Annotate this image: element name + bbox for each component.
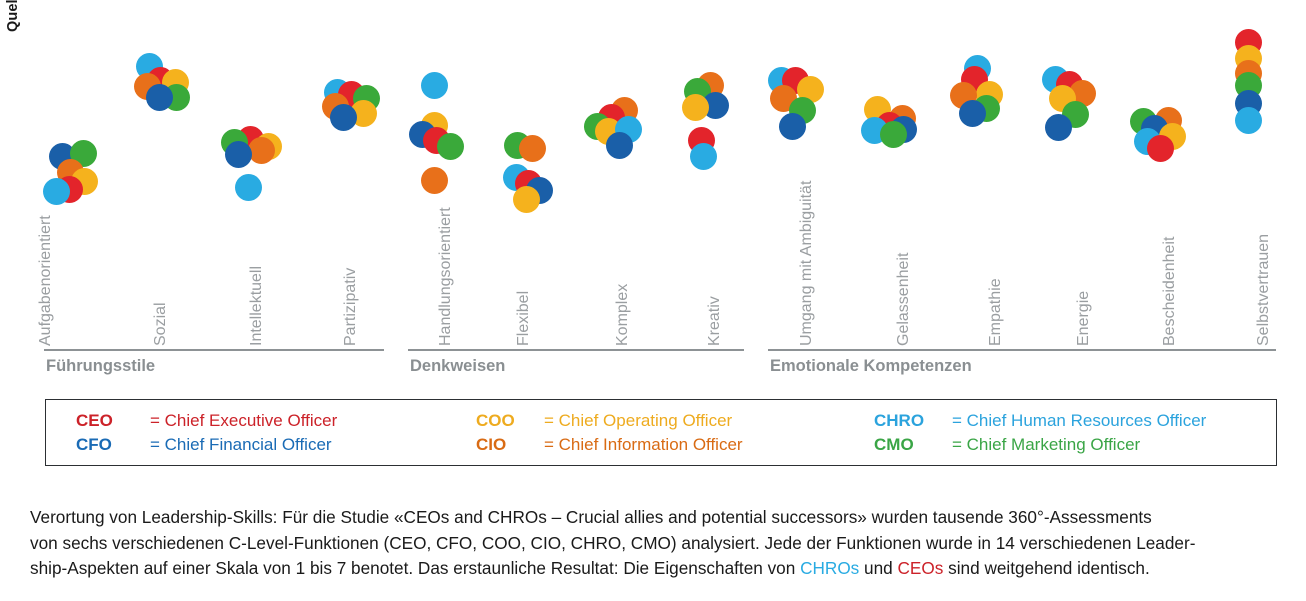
data-point-chro: [235, 174, 262, 201]
category-axis-label-slot: Partizipativ: [359, 0, 361, 349]
category-label: Handlungsorientiert: [438, 207, 454, 347]
data-point-cio: [519, 135, 546, 162]
legend-text-cfo: = Chief Financial Officer: [150, 433, 332, 457]
caption-line-3b: und: [859, 558, 897, 578]
data-point-cfo: [779, 113, 806, 140]
data-point-cfo: [146, 84, 173, 111]
category-axis-label-slot: Handlungsorientiert: [454, 0, 456, 349]
category-label: Flexibel: [516, 291, 532, 347]
figure-caption: Verortung von Leadership-Skills: Für die…: [30, 505, 1285, 582]
legend-box: CEO= Chief Executive OfficerCFO= Chief F…: [45, 399, 1277, 466]
legend-row: CFO= Chief Financial Officer: [76, 433, 337, 457]
chart-group: Emotionale Kompetenzen: [768, 0, 1276, 390]
category-axis-label-slot: Selbstvertrauen: [1272, 0, 1274, 349]
chart-group: Denkweisen: [408, 0, 744, 390]
legend-abbr-coo: COO: [476, 409, 544, 433]
caption-chro-highlight: CHROs: [800, 558, 859, 578]
category-label: Kreativ: [707, 296, 723, 347]
legend-row: CEO= Chief Executive Officer: [76, 409, 337, 433]
group-label: Emotionale Kompetenzen: [770, 357, 972, 376]
data-point-cfo: [1045, 114, 1072, 141]
legend-text-coo: = Chief Operating Officer: [544, 409, 732, 433]
caption-line-2: von sechs verschiedenen C-Level-Funktion…: [30, 533, 1195, 553]
legend-abbr-cio: CIO: [476, 433, 544, 457]
legend-abbr-cmo: CMO: [874, 433, 952, 457]
chart-group: Führungsstile: [44, 0, 384, 390]
category-label: Empathie: [988, 278, 1004, 347]
data-point-cmo: [880, 121, 907, 148]
data-point-cio: [421, 167, 448, 194]
caption-line-3a: ship-Aspekten auf einer Skala von 1 bis …: [30, 558, 800, 578]
legend-text-ceo: = Chief Executive Officer: [150, 409, 337, 433]
category-label: Sozial: [153, 302, 169, 347]
data-point-ceo: [1147, 135, 1174, 162]
legend-row: CMO= Chief Marketing Officer: [874, 433, 1206, 457]
caption-line-1: Verortung von Leadership-Skills: Für die…: [30, 507, 1152, 527]
caption-ceo-highlight: CEOs: [898, 558, 944, 578]
data-point-cfo: [606, 132, 633, 159]
data-point-cfo: [225, 141, 252, 168]
legend-row: CIO= Chief Information Officer: [476, 433, 743, 457]
legend-abbr-chro: CHRO: [874, 409, 952, 433]
group-axis-line: [768, 349, 1276, 351]
category-label: Bescheidenheit: [1162, 237, 1178, 347]
category-axis-label-slot: Aufgabenorientiert: [54, 0, 56, 349]
data-point-cfo: [959, 100, 986, 127]
legend-column: COO= Chief Operating OfficerCIO= Chief I…: [476, 409, 743, 457]
category-axis-label-slot: Energie: [1092, 0, 1094, 349]
chart-page: Quelle: Ellie Filler und Dave Ulrich, HB…: [0, 0, 1306, 601]
category-label: Aufgabenorientiert: [38, 215, 54, 347]
category-axis-label-slot: Bescheidenheit: [1178, 0, 1180, 349]
category-label: Partizipativ: [343, 268, 359, 347]
category-label: Gelassenheit: [896, 253, 912, 347]
legend-column: CHRO= Chief Human Resources OfficerCMO= …: [874, 409, 1206, 457]
legend-row: CHRO= Chief Human Resources Officer: [874, 409, 1206, 433]
data-point-cmo: [437, 133, 464, 160]
category-label: Komplex: [615, 284, 631, 347]
scatter-plot: FührungsstileAufgabenorientiertSozialInt…: [0, 0, 1306, 390]
category-axis-label-slot: Intellektuell: [265, 0, 267, 349]
category-axis-label-slot: Komplex: [631, 0, 633, 349]
group-label: Führungsstile: [46, 357, 155, 376]
data-point-cfo: [330, 104, 357, 131]
data-point-chro: [421, 72, 448, 99]
legend-abbr-cfo: CFO: [76, 433, 150, 457]
category-label: Energie: [1076, 291, 1092, 347]
caption-line-3c: sind weitgehend identisch.: [943, 558, 1149, 578]
data-point-cio: [248, 137, 275, 164]
legend-abbr-ceo: CEO: [76, 409, 150, 433]
category-label: Intellektuell: [249, 266, 265, 347]
category-axis-label-slot: Umgang mit Ambiguität: [815, 0, 817, 349]
data-point-coo: [682, 94, 709, 121]
group-label: Denkweisen: [410, 357, 505, 376]
legend-row: COO= Chief Operating Officer: [476, 409, 743, 433]
data-point-chro: [43, 178, 70, 205]
group-axis-line: [408, 349, 744, 351]
category-axis-label-slot: Gelassenheit: [912, 0, 914, 349]
data-point-coo: [513, 186, 540, 213]
category-axis-label-slot: Kreativ: [723, 0, 725, 349]
category-label: Selbstvertrauen: [1256, 234, 1272, 347]
data-point-chro: [690, 143, 717, 170]
group-axis-line: [44, 349, 384, 351]
data-point-chro: [1235, 107, 1262, 134]
legend-text-cio: = Chief Information Officer: [544, 433, 743, 457]
category-axis-label-slot: Sozial: [169, 0, 171, 349]
legend-column: CEO= Chief Executive OfficerCFO= Chief F…: [76, 409, 337, 457]
legend-text-chro: = Chief Human Resources Officer: [952, 409, 1206, 433]
category-label: Umgang mit Ambiguität: [799, 181, 815, 347]
legend-text-cmo: = Chief Marketing Officer: [952, 433, 1140, 457]
category-axis-label-slot: Empathie: [1004, 0, 1006, 349]
